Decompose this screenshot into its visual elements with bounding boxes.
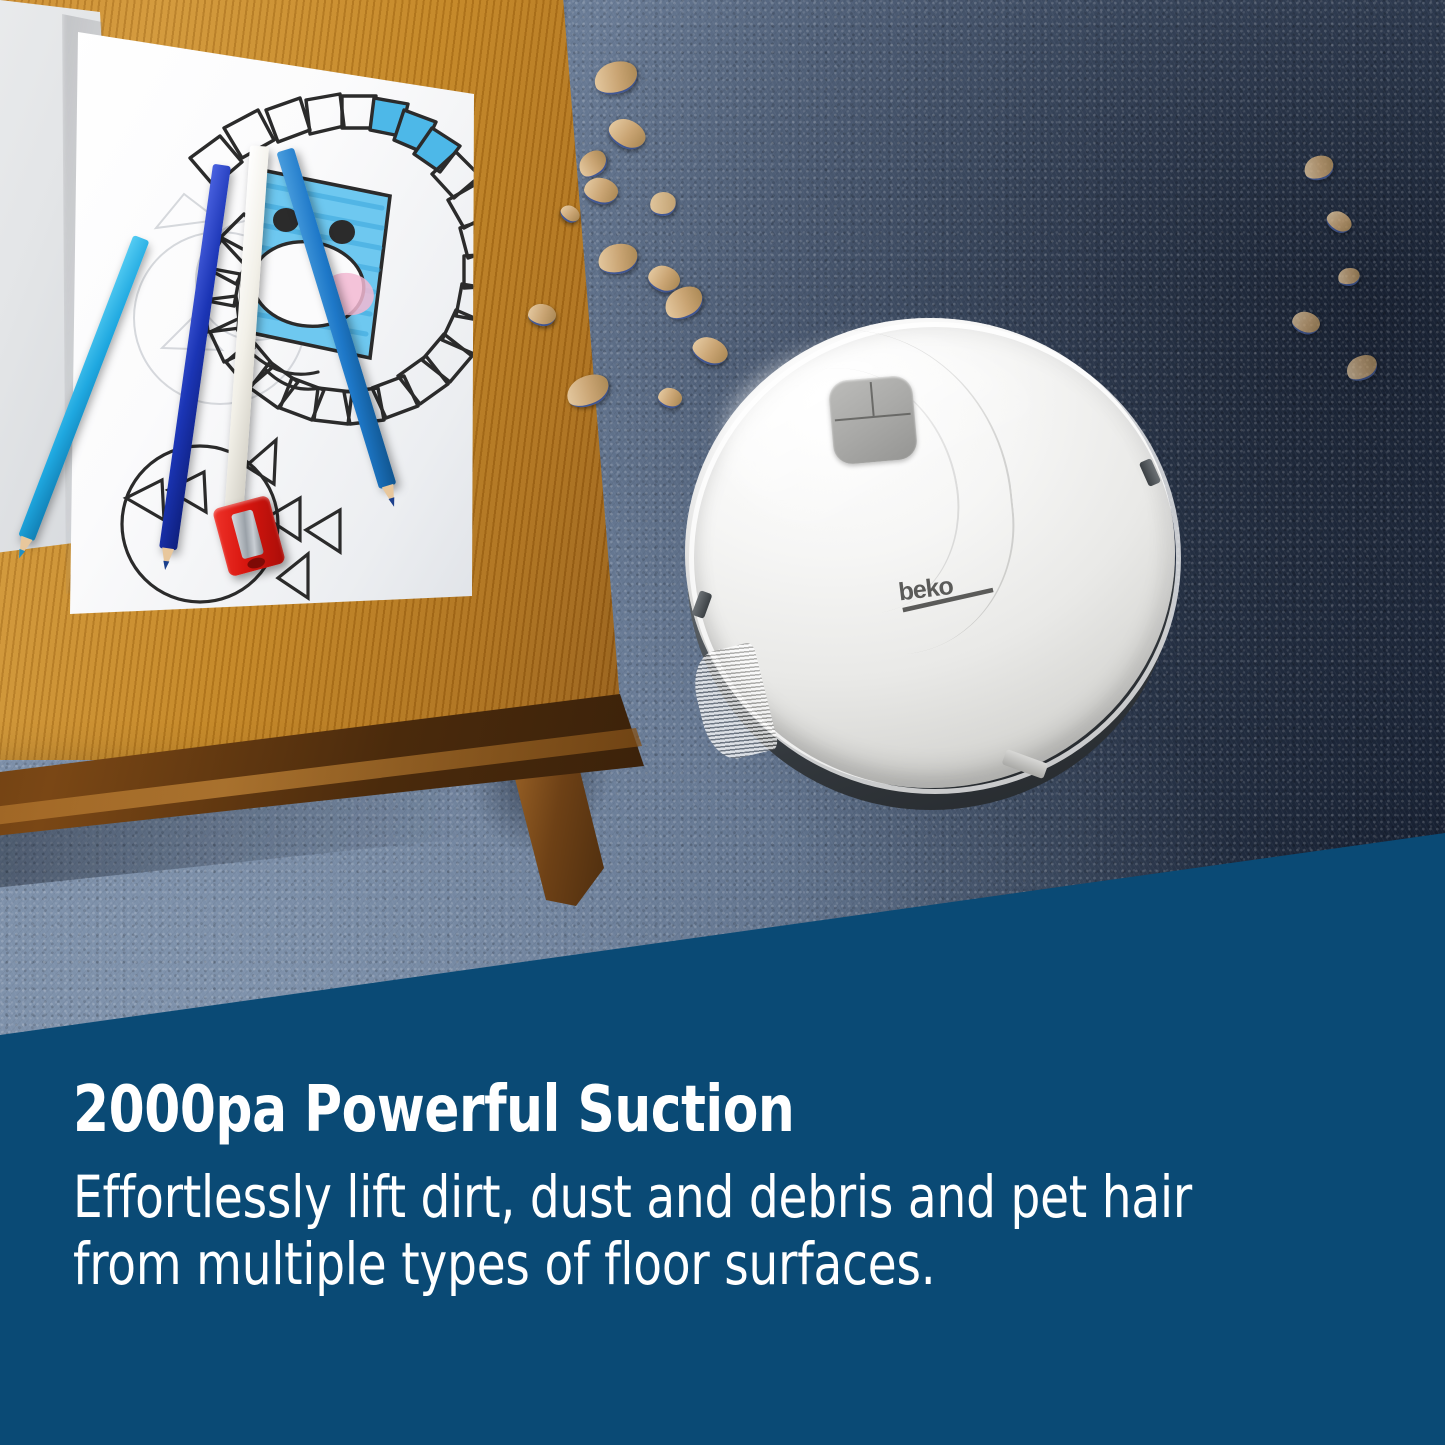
subcopy: Effortlessly lift dirt, dust and debris … [73, 1164, 1243, 1299]
robot-vacuum-power-button[interactable] [827, 374, 918, 465]
button-divider-vertical [870, 382, 875, 416]
marketing-banner-image: beko 2000pa Powerful Suction Effortlessl… [0, 0, 1445, 1445]
robot-vacuum: beko [685, 318, 1177, 810]
headline: 2000pa Powerful Suction [73, 1078, 1243, 1142]
childs-lion-drawing [70, 18, 500, 618]
subcopy-line-1: Effortlessly lift dirt, dust and debris … [73, 1164, 1243, 1231]
coffee-table [0, 0, 680, 920]
pencil-dark-blue-tip-lead [162, 561, 169, 571]
subcopy-line-2: from multiple types of floor surfaces. [73, 1231, 1243, 1298]
banner-text-block: 2000pa Powerful Suction Effortlessly lif… [73, 1078, 1373, 1299]
